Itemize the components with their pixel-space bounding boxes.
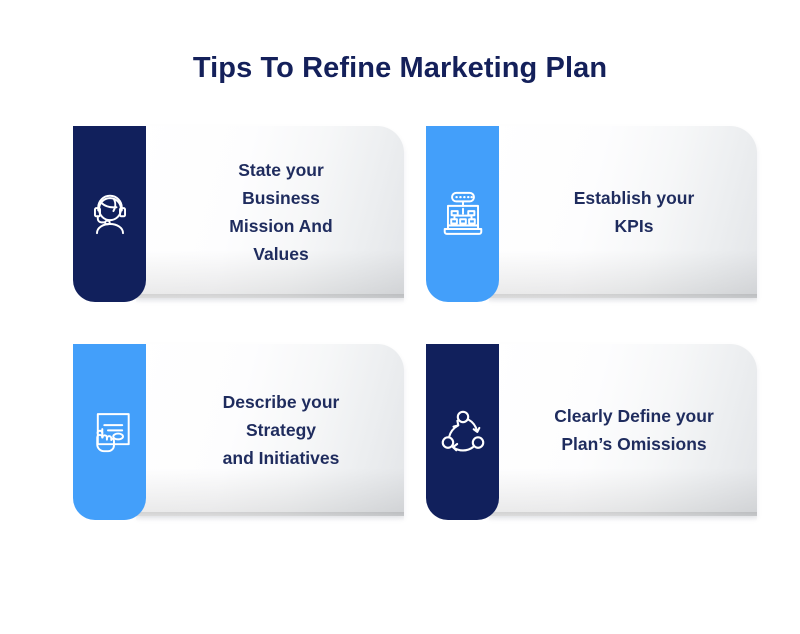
laptop-dashboard-kpi-icon [437,188,489,240]
tip-card-3-tab [73,344,146,520]
headset-support-agent-icon [84,188,136,240]
tip-card-4[interactable]: Clearly Define your Plan’s Omissions [426,344,757,520]
tip-card-1-tab [73,126,146,302]
tip-card-4-label: Clearly Define your Plan’s Omissions [511,344,757,516]
tip-card-2-label: Establish your KPIs [511,126,757,298]
infographic-root: Tips To Refine Marketing Plan [0,0,800,634]
tips-card-grid: State your Business Mission And Values [73,126,757,520]
tip-card-2-tab [426,126,499,302]
cycle-arrows-three-nodes-icon [437,406,489,458]
hand-click-document-icon [84,406,136,458]
tip-card-1[interactable]: State your Business Mission And Values [73,126,404,302]
tip-card-1-label: State your Business Mission And Values [158,126,404,298]
tip-card-4-tab [426,344,499,520]
page-title: Tips To Refine Marketing Plan [0,52,800,85]
tip-card-3-label: Describe your Strategy and Initiatives [158,344,404,516]
tip-card-3[interactable]: Describe your Strategy and Initiatives [73,344,404,520]
tip-card-2[interactable]: Establish your KPIs [426,126,757,302]
